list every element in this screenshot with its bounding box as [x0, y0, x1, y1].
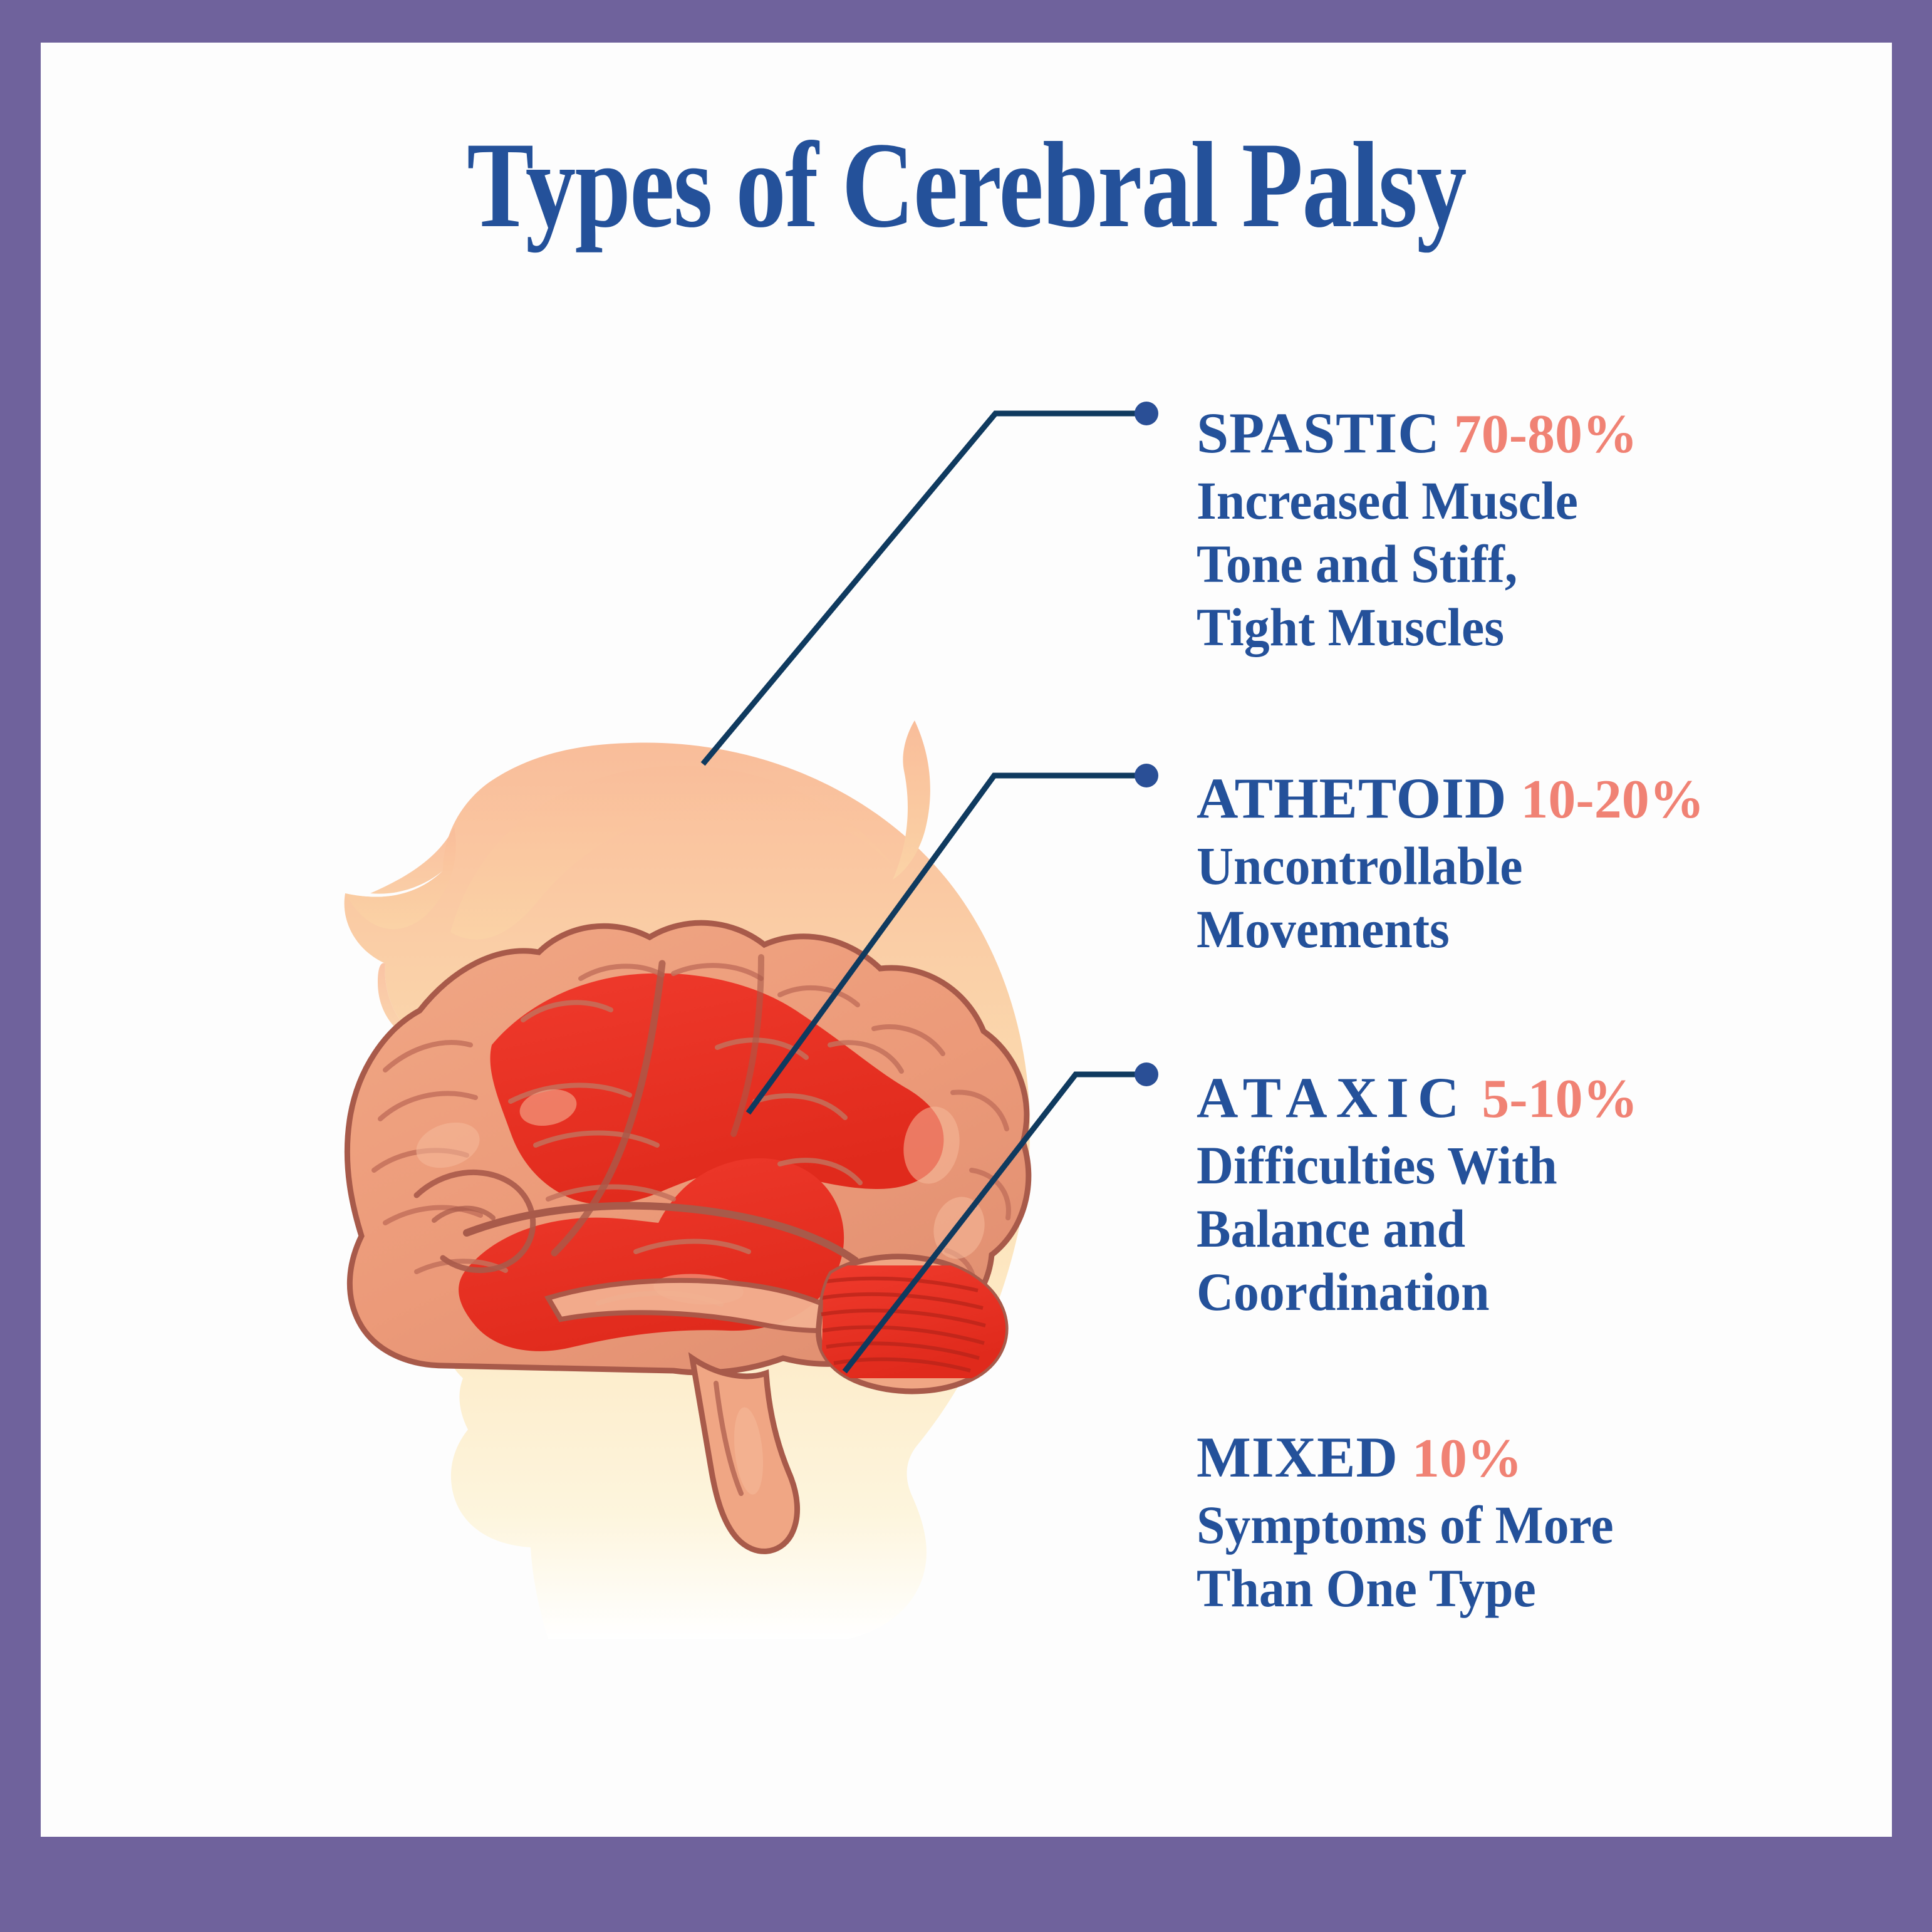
type-name: ATAXIC	[1197, 1066, 1468, 1130]
description-line: Than One Type	[1197, 1557, 1798, 1620]
type-heading: MIXED 10%	[1197, 1427, 1829, 1488]
type-description: Difficulties With Balance and Coordinati…	[1197, 1134, 1798, 1324]
type-description: Symptoms of More Than One Type	[1197, 1493, 1798, 1621]
description-line: Uncontrollable	[1197, 834, 1798, 898]
type-heading: ATHETOID 10-20%	[1197, 768, 1829, 829]
description-line: Difficulties With	[1197, 1134, 1798, 1197]
type-block-athetoid: ATHETOID 10-20% Uncontrollable Movements	[1197, 768, 1829, 961]
description-line: Symptoms of More	[1197, 1493, 1798, 1557]
type-percent: 70-80%	[1440, 404, 1638, 465]
type-heading: ATAXIC 5-10%	[1197, 1067, 1829, 1129]
type-heading: SPASTIC 70-80%	[1197, 403, 1829, 464]
type-percent: 10%	[1398, 1428, 1522, 1489]
type-block-spastic: SPASTIC 70-80% Increased Muscle Tone and…	[1197, 403, 1829, 660]
type-description: Uncontrollable Movements	[1197, 834, 1798, 962]
type-name: ATHETOID	[1197, 766, 1507, 830]
type-percent: 10-20%	[1507, 769, 1704, 830]
type-block-ataxic: ATAXIC 5-10% Difficulties With Balance a…	[1197, 1067, 1829, 1324]
type-name: SPASTIC	[1197, 401, 1440, 465]
description-line: Tight Muscles	[1197, 596, 1798, 659]
page-title: Types of Cerebral Palsy	[207, 124, 1725, 247]
infographic-canvas: Types of Cerebral Palsy	[41, 43, 1892, 1837]
description-line: Movements	[1197, 898, 1798, 961]
brain-illustration	[197, 669, 1212, 1684]
type-block-mixed: MIXED 10% Symptoms of More Than One Type	[1197, 1427, 1829, 1620]
bullet-spastic	[1135, 402, 1158, 425]
description-line: Increased Muscle	[1197, 469, 1798, 532]
description-line: Tone and Stiff,	[1197, 532, 1798, 596]
type-description: Increased Muscle Tone and Stiff, Tight M…	[1197, 469, 1798, 660]
type-percent: 5-10%	[1468, 1069, 1638, 1130]
type-name: MIXED	[1197, 1425, 1398, 1489]
cerebellum-highlight	[821, 1265, 1005, 1378]
description-line: Coordination	[1197, 1260, 1798, 1324]
description-line: Balance and	[1197, 1197, 1798, 1260]
